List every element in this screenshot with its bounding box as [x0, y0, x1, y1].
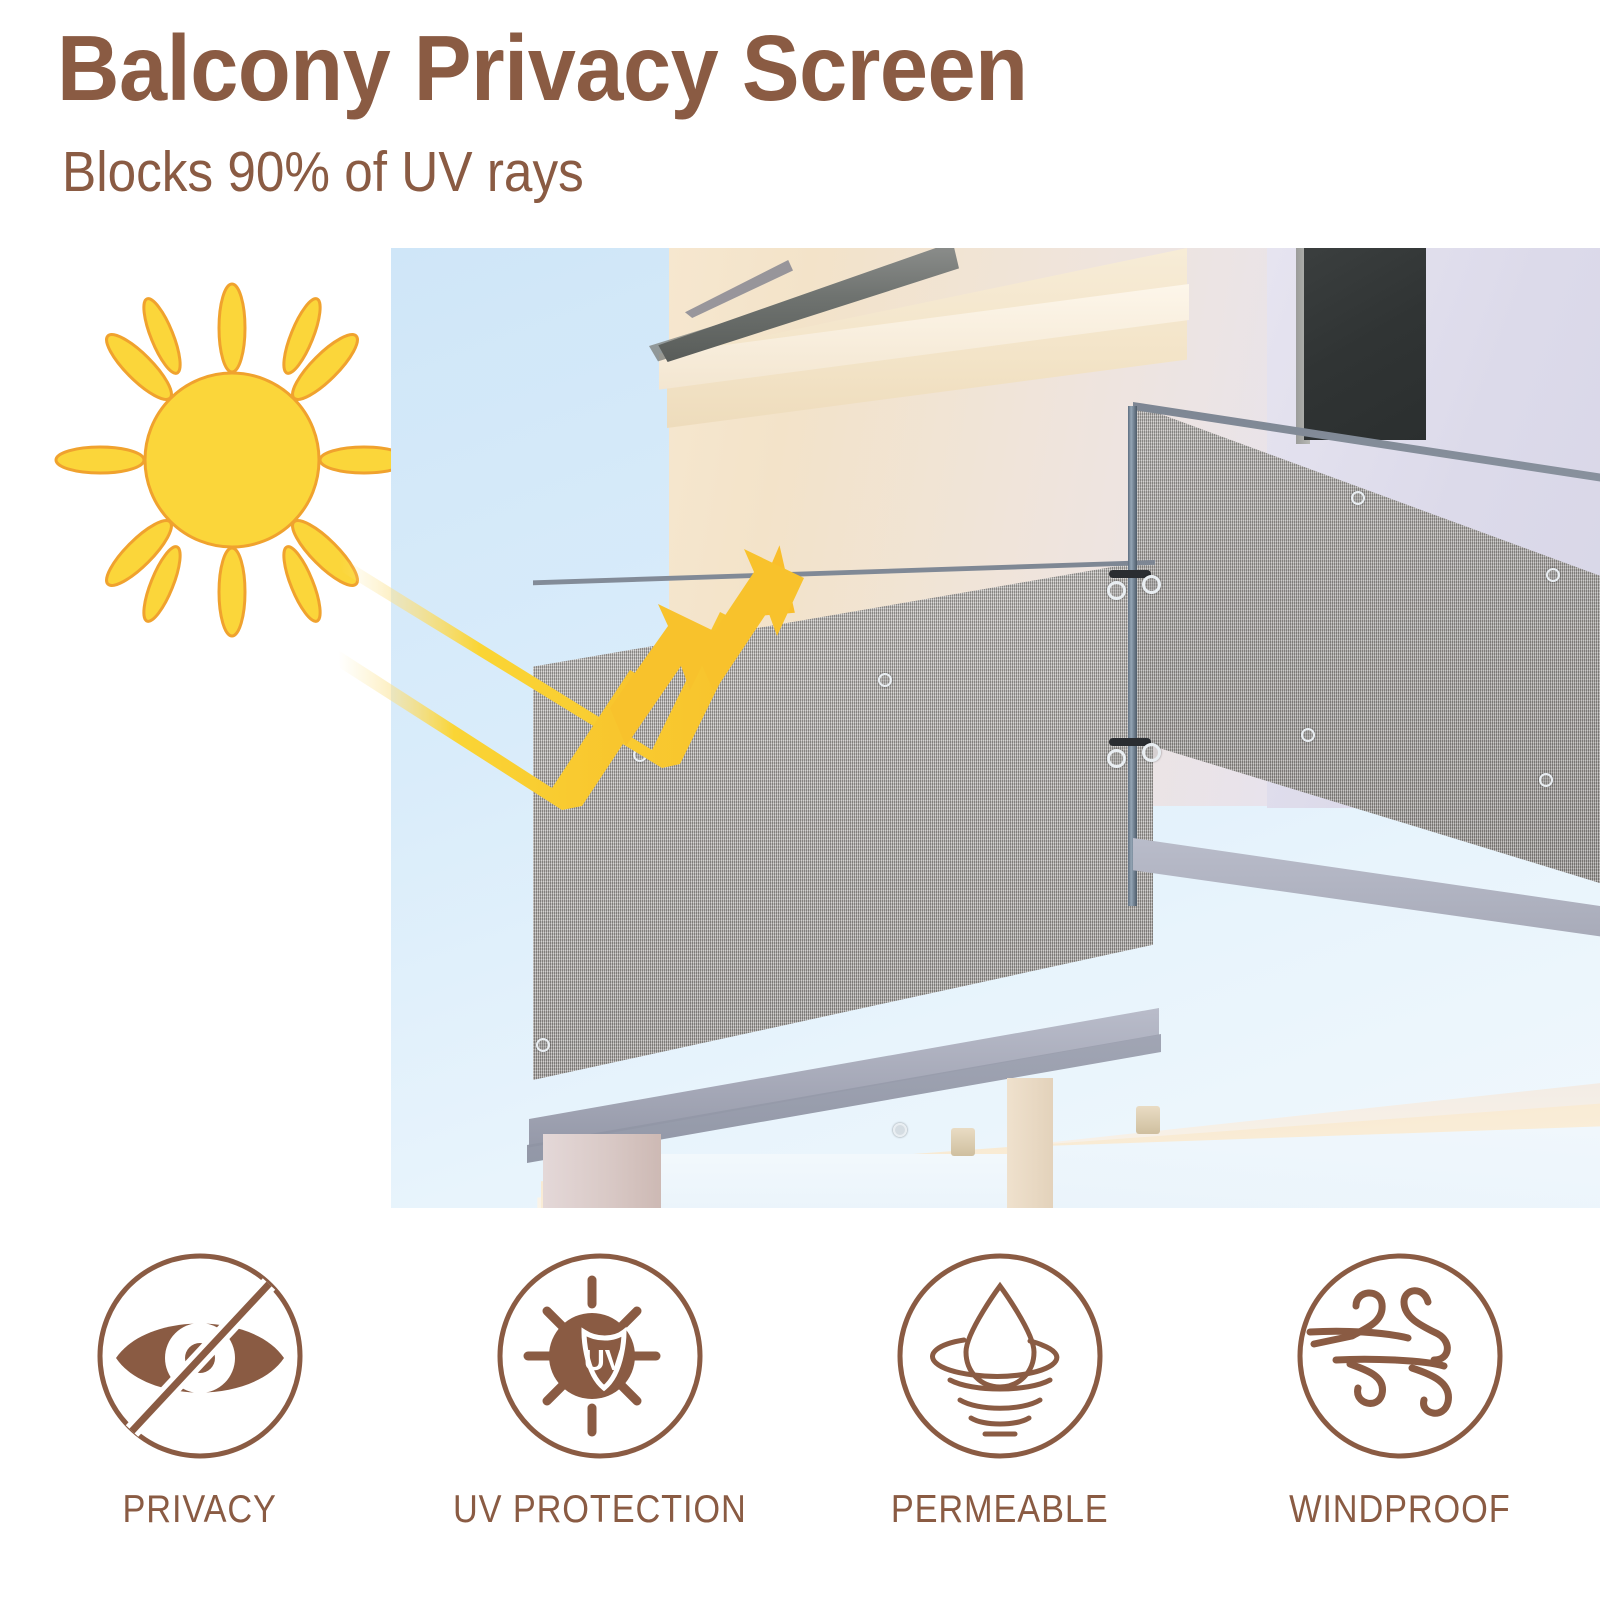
grommet-icon: [1107, 749, 1126, 768]
eye-slash-icon: [92, 1248, 308, 1464]
feature-label: PRIVACY: [123, 1488, 277, 1532]
lower-opening-left: [661, 1154, 1011, 1208]
product-infographic: Balcony Privacy Screen Blocks 90% of UV …: [0, 0, 1600, 1600]
grommet-icon: [633, 748, 647, 762]
water-drop-ripple-icon: [892, 1248, 1108, 1464]
feature-uv-protection[interactable]: UV UV PROTECTION: [400, 1248, 800, 1532]
pillar-right: [1007, 1078, 1053, 1208]
privacy-screen-fabric-side: [1133, 404, 1600, 884]
wind-swirl-icon: [1292, 1248, 1508, 1464]
ceiling-light-icon: [1136, 1106, 1160, 1134]
pillar-left: [543, 1134, 661, 1208]
page-title: Balcony Privacy Screen: [57, 16, 1028, 120]
svg-text:UV: UV: [584, 1345, 625, 1377]
grommet-icon: [1301, 728, 1315, 742]
grommet-icon: [536, 1038, 550, 1052]
feature-label: UV PROTECTION: [453, 1488, 747, 1532]
page-subtitle: Blocks 90% of UV rays: [62, 140, 584, 204]
corner-post: [1128, 406, 1137, 906]
feature-list: PRIVACY: [0, 1248, 1600, 1600]
feature-label: WINDPROOF: [1289, 1488, 1510, 1532]
grommet-icon: [1107, 581, 1126, 600]
sun-icon: [36, 282, 428, 638]
grommet-icon: [893, 1123, 907, 1137]
grommet-icon: [1546, 568, 1560, 582]
balcony-privacy-screen-photo: [391, 248, 1600, 1208]
grommet-icon: [1351, 491, 1365, 505]
feature-windproof[interactable]: WINDPROOF: [1200, 1248, 1600, 1532]
grommet-icon: [1142, 743, 1161, 762]
feature-permeable[interactable]: PERMEABLE: [800, 1248, 1200, 1532]
feature-privacy[interactable]: PRIVACY: [0, 1248, 400, 1532]
feature-label: PERMEABLE: [891, 1488, 1109, 1532]
grommet-icon: [878, 673, 892, 687]
privacy-screen-fabric-front: [533, 560, 1153, 1080]
ceiling-light-icon: [951, 1128, 975, 1156]
grommet-icon: [1539, 773, 1553, 787]
grommet-icon: [1142, 575, 1161, 594]
sun-shield-uv-icon: UV: [492, 1248, 708, 1464]
